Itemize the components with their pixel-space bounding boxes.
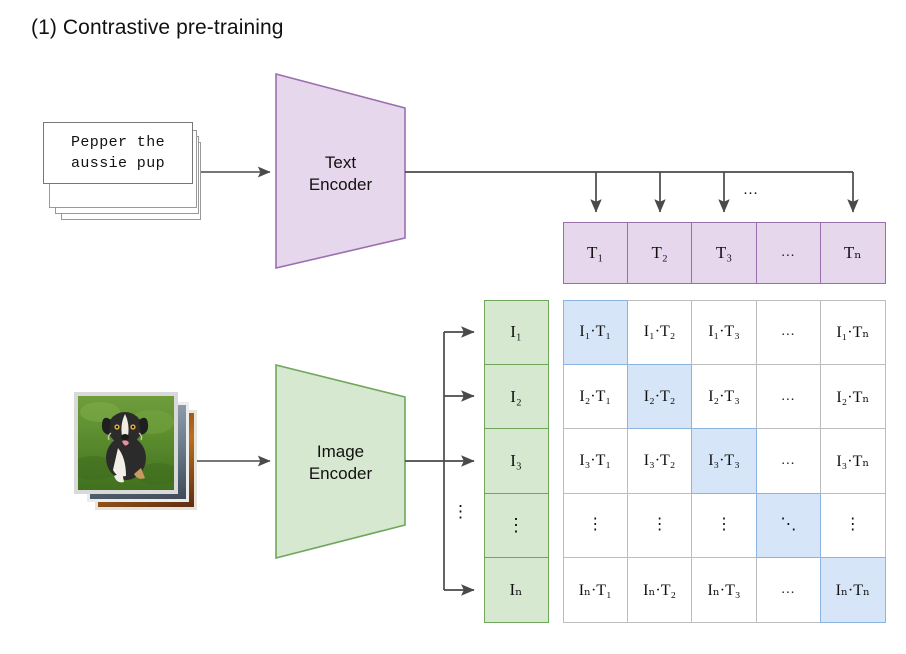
matrix-cell-r3-c2: I₃·T₂ <box>627 428 692 493</box>
matrix-cell-r2-c3: I₂·T₃ <box>691 364 756 429</box>
matrix-cell-r4-c4: ⋱ <box>756 493 821 558</box>
matrix-cell-r1-c5: I₁·Tₙ <box>820 300 885 365</box>
text-embedding-cell-1: T₁ <box>563 222 628 284</box>
matrix-cell-r3-c1: I₃·T₁ <box>563 428 628 493</box>
image-embedding-cell-2: I₂ <box>484 364 549 429</box>
matrix-cell-r5-c3: Iₙ·T₃ <box>691 557 756 622</box>
text-encoder-shape[interactable] <box>276 74 405 268</box>
text-input-card[interactable]: Pepper the aussie pup <box>43 122 193 184</box>
image-embedding-column: I₁I₂I₃⋮Iₙ <box>484 300 548 622</box>
matrix-cell-r4-c2: ⋮ <box>627 493 692 558</box>
image-fanout-ellipsis: ⋮ <box>452 508 466 515</box>
matrix-cell-r5-c1: Iₙ·T₁ <box>563 557 628 622</box>
matrix-cell-r2-c2: I₂·T₂ <box>627 364 692 429</box>
matrix-cell-r5-c4: … <box>756 557 821 622</box>
matrix-cell-r1-c2: I₁·T₂ <box>627 300 692 365</box>
photo-stack-item-1[interactable] <box>74 392 178 494</box>
text-input-caption: Pepper the aussie pup <box>71 132 165 174</box>
matrix-cell-r1-c4: … <box>756 300 821 365</box>
image-embedding-cell-5: Iₙ <box>484 557 549 622</box>
matrix-cell-r2-c5: I₂·Tₙ <box>820 364 885 429</box>
matrix-cell-r4-c3: ⋮ <box>691 493 756 558</box>
image-encoder-shape[interactable] <box>276 365 405 558</box>
matrix-cell-r1-c1: I₁·T₁ <box>563 300 628 365</box>
similarity-matrix: I₁·T₁I₁·T₂I₁·T₃…I₁·TₙI₂·T₁I₂·T₂I₂·T₃…I₂·… <box>563 300 885 622</box>
matrix-cell-r2-c1: I₂·T₁ <box>563 364 628 429</box>
image-embedding-cell-1: I₁ <box>484 300 549 365</box>
text-embedding-row: T₁T₂T₃…Tₙ <box>563 222 885 283</box>
image-embedding-cell-4: ⋮ <box>484 493 549 558</box>
diagram-canvas: (1) Contrastive pre-training <box>0 0 906 654</box>
text-embedding-cell-4: … <box>756 222 821 284</box>
matrix-cell-r1-c3: I₁·T₃ <box>691 300 756 365</box>
matrix-cell-r4-c1: ⋮ <box>563 493 628 558</box>
text-embedding-cell-5: Tₙ <box>820 222 885 284</box>
matrix-cell-r3-c4: … <box>756 428 821 493</box>
text-embedding-cell-3: T₃ <box>691 222 756 284</box>
text-embedding-cell-2: T₂ <box>627 222 692 284</box>
matrix-cell-r2-c4: … <box>756 364 821 429</box>
matrix-cell-r5-c5: Iₙ·Tₙ <box>820 557 885 622</box>
matrix-cell-r3-c5: I₃·Tₙ <box>820 428 885 493</box>
matrix-cell-r5-c2: Iₙ·T₂ <box>627 557 692 622</box>
text-fanout-ellipsis: … <box>737 182 765 199</box>
image-embedding-cell-3: I₃ <box>484 428 549 493</box>
matrix-cell-r4-c5: ⋮ <box>820 493 885 558</box>
puppy-photo <box>78 396 174 490</box>
matrix-cell-r3-c3: I₃·T₃ <box>691 428 756 493</box>
